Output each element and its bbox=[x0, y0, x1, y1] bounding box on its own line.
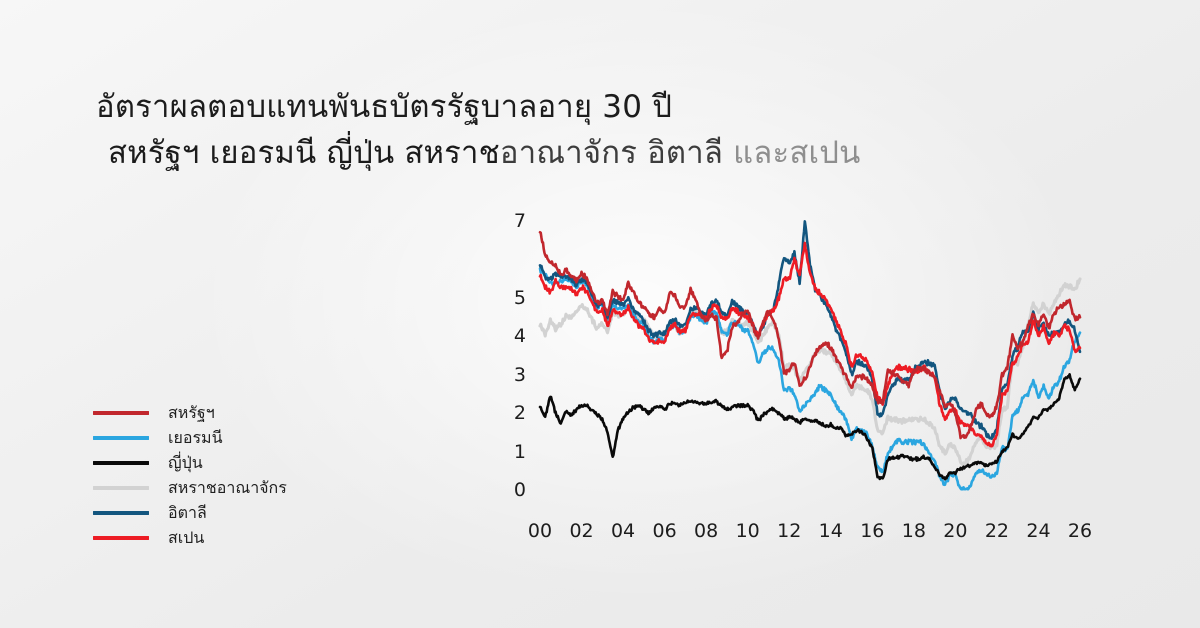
x-axis-tick-label: 18 bbox=[902, 522, 926, 541]
series-line-4 bbox=[540, 243, 1080, 446]
legend-item-label: สหราชอาณาจักร bbox=[168, 480, 287, 496]
title-line-1: อัตราผลตอบแทนพันธบัตรรัฐบาลอายุ 30 ปี bbox=[96, 84, 936, 130]
legend-color-swatch bbox=[93, 536, 149, 540]
x-axis-tick-label: 02 bbox=[569, 522, 593, 541]
line-chart-svg bbox=[492, 192, 1092, 552]
legend-item-1[interactable]: สหรัฐฯ bbox=[93, 400, 333, 425]
x-axis-tick-label: 22 bbox=[985, 522, 1009, 541]
x-axis-tick-label: 26 bbox=[1068, 522, 1092, 541]
series-line-3 bbox=[540, 221, 1080, 438]
legend-color-swatch bbox=[93, 461, 149, 465]
chart-title: อัตราผลตอบแทนพันธบัตรรัฐบาลอายุ 30 ปี สห… bbox=[96, 84, 936, 176]
legend-item-4[interactable]: สหราชอาณาจักร bbox=[93, 475, 333, 500]
legend-color-swatch bbox=[93, 411, 149, 415]
x-axis-tick-label: 20 bbox=[943, 522, 967, 541]
legend-item-label: สเปน bbox=[168, 530, 204, 546]
legend-color-swatch bbox=[93, 486, 149, 490]
title-line-2-part-2: อาณาจักร อิตาลี bbox=[500, 135, 723, 171]
y-axis-tick-label: 7 bbox=[492, 212, 526, 231]
y-axis-tick-label: 3 bbox=[492, 366, 526, 385]
title-line-2-part-1: สหรัฐฯ เยอรมนี ญี่ปุ่น สหราช bbox=[108, 135, 500, 171]
x-axis-tick-label: 08 bbox=[694, 522, 718, 541]
legend-item-label: อิตาลี bbox=[168, 505, 207, 521]
y-axis-tick-label: 0 bbox=[492, 481, 526, 500]
legend-item-2[interactable]: เยอรมนี bbox=[93, 425, 333, 450]
x-axis-tick-label: 24 bbox=[1026, 522, 1050, 541]
legend-item-3[interactable]: ญี่ปุ่น bbox=[93, 450, 333, 475]
x-axis-tick-label: 06 bbox=[653, 522, 677, 541]
y-axis-tick-label: 5 bbox=[492, 289, 526, 308]
x-axis-tick-label: 04 bbox=[611, 522, 635, 541]
x-axis-tick-label: 12 bbox=[777, 522, 801, 541]
chart-legend: สหรัฐฯเยอรมนีญี่ปุ่นสหราชอาณาจักรอิตาลีส… bbox=[93, 400, 333, 550]
x-axis-tick-label: 00 bbox=[528, 522, 552, 541]
legend-item-label: สหรัฐฯ bbox=[168, 405, 215, 421]
y-axis-tick-label: 1 bbox=[492, 443, 526, 462]
legend-item-6[interactable]: สเปน bbox=[93, 525, 333, 550]
y-axis-tick-label: 2 bbox=[492, 404, 526, 423]
x-axis-tick-label: 10 bbox=[736, 522, 760, 541]
legend-item-5[interactable]: อิตาลี bbox=[93, 500, 333, 525]
title-line-2: สหรัฐฯ เยอรมนี ญี่ปุ่น สหราชอาณาจักร อิต… bbox=[96, 130, 936, 176]
chart-plot-area: 75432100002040608101214161820222426 bbox=[492, 192, 1092, 552]
legend-color-swatch bbox=[93, 511, 149, 515]
y-axis-tick-label: 4 bbox=[492, 327, 526, 346]
x-axis-tick-label: 16 bbox=[860, 522, 884, 541]
x-axis-tick-label: 14 bbox=[819, 522, 843, 541]
legend-item-label: ญี่ปุ่น bbox=[168, 455, 203, 471]
legend-item-label: เยอรมนี bbox=[168, 430, 223, 446]
legend-color-swatch bbox=[93, 436, 149, 440]
title-line-2-part-3: และสเปน bbox=[723, 135, 860, 171]
